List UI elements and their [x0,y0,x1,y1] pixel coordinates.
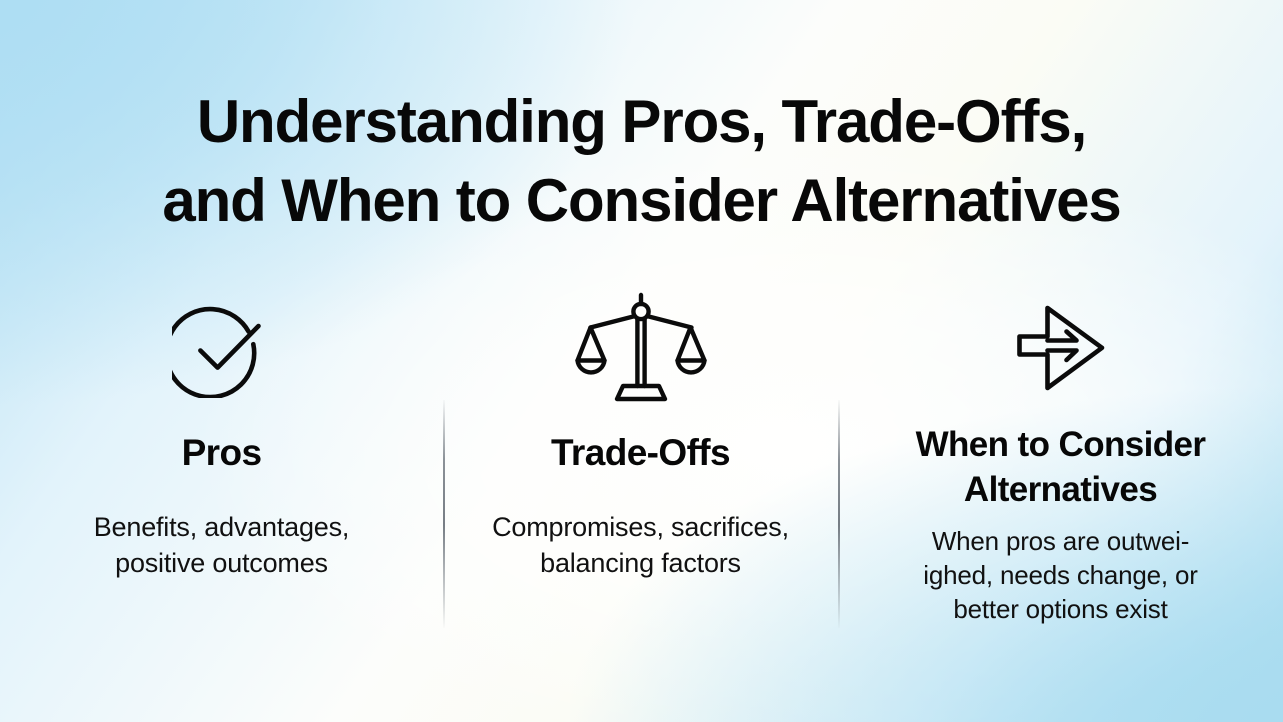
page-title: Understanding Pros, Trade-Offs, and When… [0,82,1283,240]
balance-scale-icon [574,296,708,400]
column-trade-offs-description: Compromises, sacrifices, balancing facto… [492,509,789,581]
column-alternatives-heading-line-1: When to Consider [916,422,1206,467]
page-title-line-1: Understanding Pros, Trade-Offs, [60,82,1223,161]
column-alternatives-description: When pros are outwei- ighed, needs chang… [923,524,1197,626]
column-trade-offs-heading: Trade-Offs [551,431,730,475]
column-alternatives-heading-line-2: Alternatives [916,467,1206,512]
column-trade-offs: Trade-Offs Compromises, sacrifices, bala… [443,296,838,581]
column-alternatives-description-line-3: better options exist [923,592,1197,626]
slide-canvas: Understanding Pros, Trade-Offs, and When… [0,0,1283,722]
column-pros-heading: Pros [182,431,262,475]
column-trade-offs-description-line-1: Compromises, sacrifices, [492,509,789,545]
column-alternatives: When to Consider Alternatives When pros … [838,296,1283,626]
columns-row: Pros Benefits, advantages, positive outc… [0,296,1283,696]
column-alternatives-heading: When to Consider Alternatives [916,422,1206,512]
column-alternatives-description-line-2: ighed, needs change, or [923,558,1197,592]
column-alternatives-description-line-1: When pros are outwei- [923,524,1197,558]
column-pros-description-line-2: positive outcomes [94,545,349,581]
check-circle-icon [172,296,272,400]
right-arrow-icon [1011,296,1111,400]
page-title-line-2: and When to Consider Alternatives [60,161,1223,240]
column-trade-offs-description-line-2: balancing factors [492,545,789,581]
column-pros-description: Benefits, advantages, positive outcomes [94,509,349,581]
column-pros-description-line-1: Benefits, advantages, [94,509,349,545]
column-pros: Pros Benefits, advantages, positive outc… [0,296,443,581]
